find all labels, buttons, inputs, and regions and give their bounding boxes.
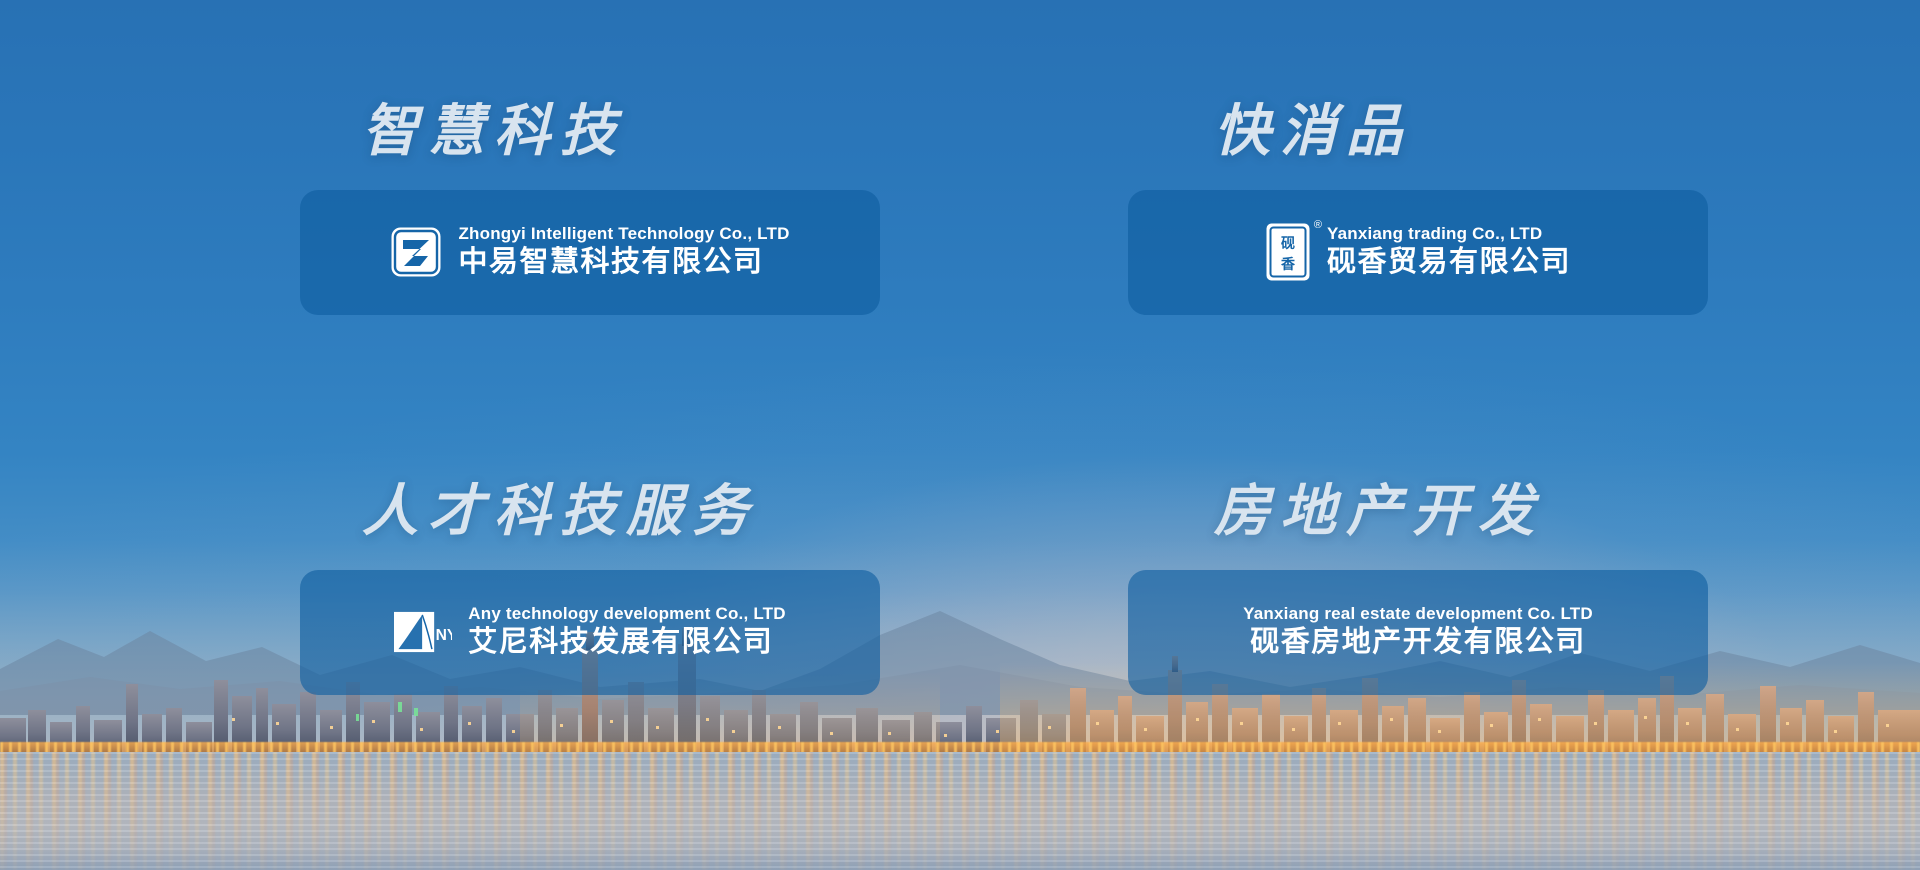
zhongyi-z-logo [390, 226, 442, 278]
company-names: Yanxiang real estate development Co. LTD… [1243, 603, 1593, 662]
company-names: Zhongyi Intelligent Technology Co., LTD … [458, 223, 789, 282]
segment-real-estate-development: 房地产开发 Yanxiang real estate development C… [960, 435, 1920, 870]
company-names: Any technology development Co., LTD 艾尼科技… [468, 603, 785, 662]
business-segments-grid: 智慧科技 Zhongyi Intelligent Technology Co.,… [0, 0, 1920, 870]
segment-smart-technology: 智慧科技 Zhongyi Intelligent Technology Co.,… [0, 0, 960, 435]
segment-heading: 人才科技服务 [300, 480, 880, 542]
segment-heading: 快消品 [1128, 100, 1708, 162]
company-name-cn: 砚香房地产开发有限公司 [1250, 624, 1586, 662]
yanxiang-seal-logo: 砚 香 ® [1265, 222, 1311, 282]
registered-mark: ® [1314, 220, 1322, 231]
company-names: Yanxiang trading Co., LTD 砚香贸易有限公司 [1327, 223, 1571, 282]
company-name-en: Any technology development Co., LTD [468, 603, 785, 624]
company-card-zhongyi[interactable]: Zhongyi Intelligent Technology Co., LTD … [300, 190, 880, 315]
company-name-en: Yanxiang real estate development Co. LTD [1243, 603, 1593, 624]
svg-text:香: 香 [1280, 256, 1296, 273]
segment-heading: 智慧科技 [300, 100, 880, 162]
company-name-en: Zhongyi Intelligent Technology Co., LTD [458, 223, 789, 244]
company-name-cn: 中易智慧科技有限公司 [458, 244, 789, 282]
company-name-en: Yanxiang trading Co., LTD [1327, 223, 1571, 244]
svg-text:砚: 砚 [1281, 236, 1295, 252]
company-card-any-technology[interactable]: NY Any technology development Co., LTD 艾… [300, 570, 880, 695]
segment-talent-technology-service: 人才科技服务 NY Any technology development Co.… [0, 435, 960, 870]
segment-heading: 房地产开发 [1128, 480, 1708, 542]
company-card-yanxiang-real-estate[interactable]: Yanxiang real estate development Co. LTD… [1128, 570, 1708, 695]
svg-text:NY: NY [436, 627, 452, 644]
segment-fmcg: 快消品 砚 香 ® Yanxiang trading Co., LTD [960, 0, 1920, 435]
company-card-yanxiang-trading[interactable]: 砚 香 ® Yanxiang trading Co., LTD 砚香贸易有限公司 [1128, 190, 1708, 315]
company-name-cn: 砚香贸易有限公司 [1327, 244, 1571, 282]
company-name-cn: 艾尼科技发展有限公司 [468, 624, 785, 662]
any-mountain-logo: NY [394, 603, 452, 661]
